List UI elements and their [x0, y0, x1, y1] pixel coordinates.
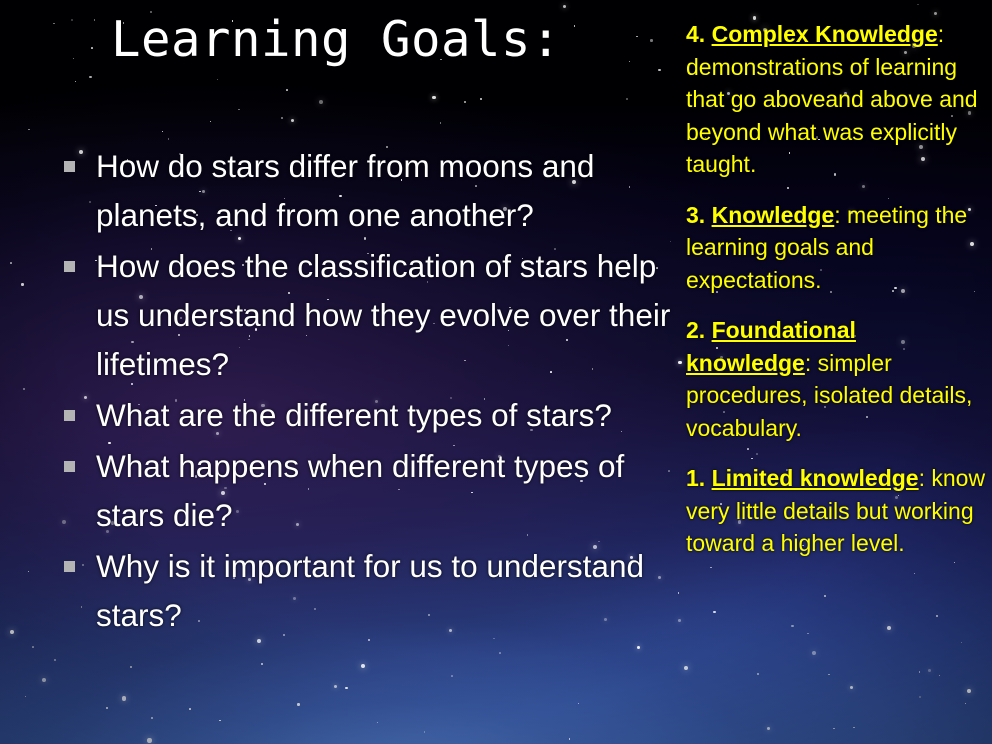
knowledge-level-item: 3. Knowledge: meeting the learning goals… — [686, 199, 986, 297]
list-item-label: What happens when different types of sta… — [96, 448, 624, 533]
knowledge-level-number: 2. — [686, 317, 705, 343]
page-title: Learning Goals: — [0, 14, 672, 65]
slide-content: Learning Goals: How do stars differ from… — [0, 0, 992, 744]
list-item: What happens when different types of sta… — [58, 442, 684, 540]
list-item: What are the different types of stars? — [58, 391, 684, 440]
list-item-label: What are the different types of stars? — [96, 397, 612, 433]
knowledge-level-term: Limited knowledge — [712, 465, 919, 491]
knowledge-level-term: Knowledge — [712, 202, 835, 228]
knowledge-level-number: 3. — [686, 202, 705, 228]
list-item: How do stars differ from moons and plane… — [58, 142, 684, 240]
presentation-slide: Learning Goals: How do stars differ from… — [0, 0, 992, 744]
list-item-label: How does the classification of stars hel… — [96, 248, 670, 382]
knowledge-level-number: 1. — [686, 465, 705, 491]
list-item-label: Why is it important for us to understand… — [96, 548, 644, 633]
knowledge-level-item: 4. Complex Knowledge: demonstrations of … — [686, 18, 986, 181]
knowledge-level-term: Complex Knowledge — [712, 21, 938, 47]
knowledge-level-item: 2. Foundational knowledge: simpler proce… — [686, 314, 986, 444]
knowledge-level-number: 4. — [686, 21, 705, 47]
list-item-label: How do stars differ from moons and plane… — [96, 148, 594, 233]
square-bullet-icon — [64, 261, 75, 272]
list-item: Why is it important for us to understand… — [58, 542, 684, 640]
knowledge-level-item: 1. Limited knowledge: know very little d… — [686, 462, 986, 560]
learning-goals-list: How do stars differ from moons and plane… — [58, 142, 684, 642]
square-bullet-icon — [64, 461, 75, 472]
knowledge-levels-list: 4. Complex Knowledge: demonstrations of … — [686, 18, 986, 578]
square-bullet-icon — [64, 161, 75, 172]
list-item: How does the classification of stars hel… — [58, 242, 684, 389]
square-bullet-icon — [64, 410, 75, 421]
square-bullet-icon — [64, 561, 75, 572]
